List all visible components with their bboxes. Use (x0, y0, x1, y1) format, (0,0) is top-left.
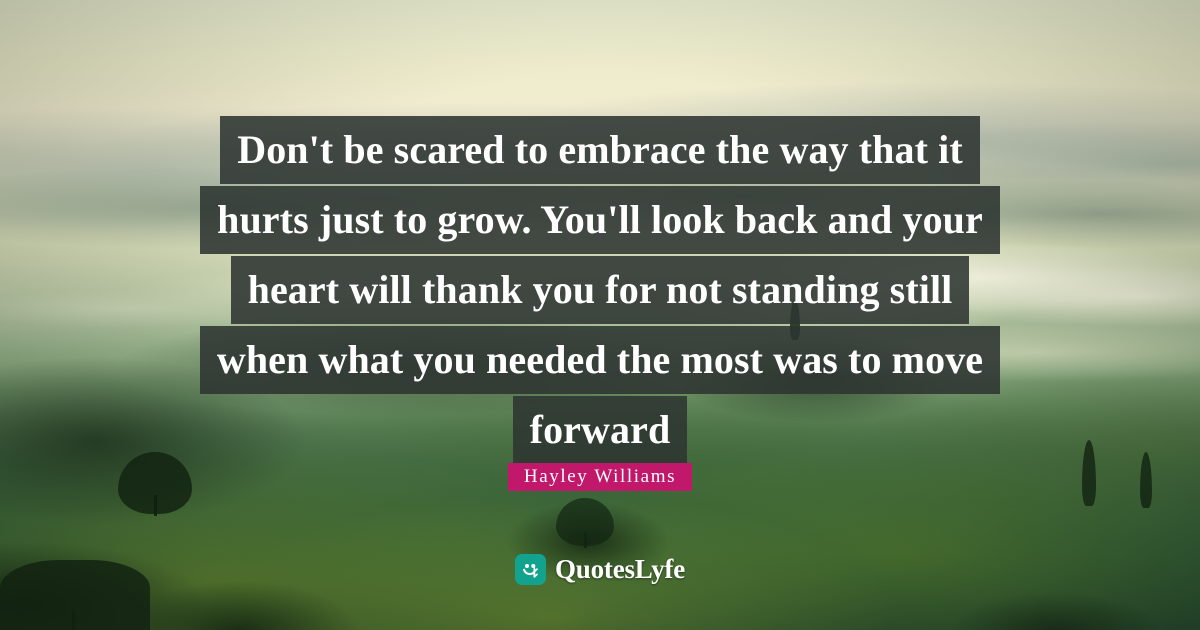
site-logo-text: QuotesLyfe (555, 554, 685, 585)
quote-line-text: heart will thank you for not standing st… (231, 256, 970, 324)
quote-line: hurts just to grow. You'll look back and… (0, 186, 1200, 254)
quote-line: Don't be scared to embrace the way that … (0, 116, 1200, 184)
quote-line: heart will thank you for not standing st… (0, 256, 1200, 324)
quote-line: when what you needed the most was to mov… (0, 326, 1200, 394)
author-name-badge[interactable]: Hayley Williams (508, 463, 692, 491)
author-attribution: Hayley Williams (0, 463, 1200, 491)
site-logo[interactable]: QuotesLyfe (0, 554, 1200, 585)
quote-card: Don't be scared to embrace the way that … (0, 0, 1200, 630)
quote-line-text: when what you needed the most was to mov… (200, 326, 1000, 394)
quote-line: forward (0, 396, 1200, 464)
quote-line-text: forward (513, 396, 688, 464)
quote-line-text: Don't be scared to embrace the way that … (220, 116, 980, 184)
quote-smiley-icon (515, 554, 546, 585)
quote-line-text: hurts just to grow. You'll look back and… (200, 186, 1000, 254)
quote-text-block: Don't be scared to embrace the way that … (0, 116, 1200, 466)
